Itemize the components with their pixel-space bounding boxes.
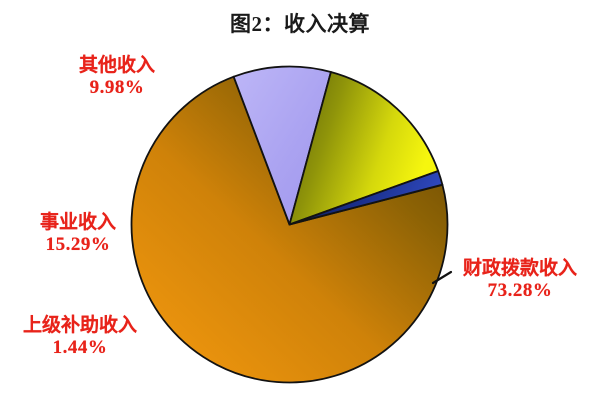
slice-label-fiscal: 财政拨款收入 73.28% bbox=[444, 258, 596, 302]
slice-label-superior-percent: 1.44% bbox=[0, 337, 160, 359]
slice-label-business-name: 事业收入 bbox=[8, 212, 148, 234]
slice-label-fiscal-name: 财政拨款收入 bbox=[444, 258, 596, 280]
chart-page: 图2：收入决算 bbox=[0, 0, 600, 401]
slice-label-superior: 上级补助收入 1.44% bbox=[0, 315, 160, 359]
slice-label-business: 事业收入 15.29% bbox=[8, 212, 148, 256]
slice-label-fiscal-percent: 73.28% bbox=[444, 280, 596, 302]
slice-label-superior-name: 上级补助收入 bbox=[0, 315, 160, 337]
slice-label-other-name: 其他收入 bbox=[42, 55, 192, 77]
slice-label-other-percent: 9.98% bbox=[42, 77, 192, 99]
slice-label-business-percent: 15.29% bbox=[8, 234, 148, 256]
slice-label-other: 其他收入 9.98% bbox=[42, 55, 192, 99]
pie-slice-group bbox=[132, 67, 448, 383]
